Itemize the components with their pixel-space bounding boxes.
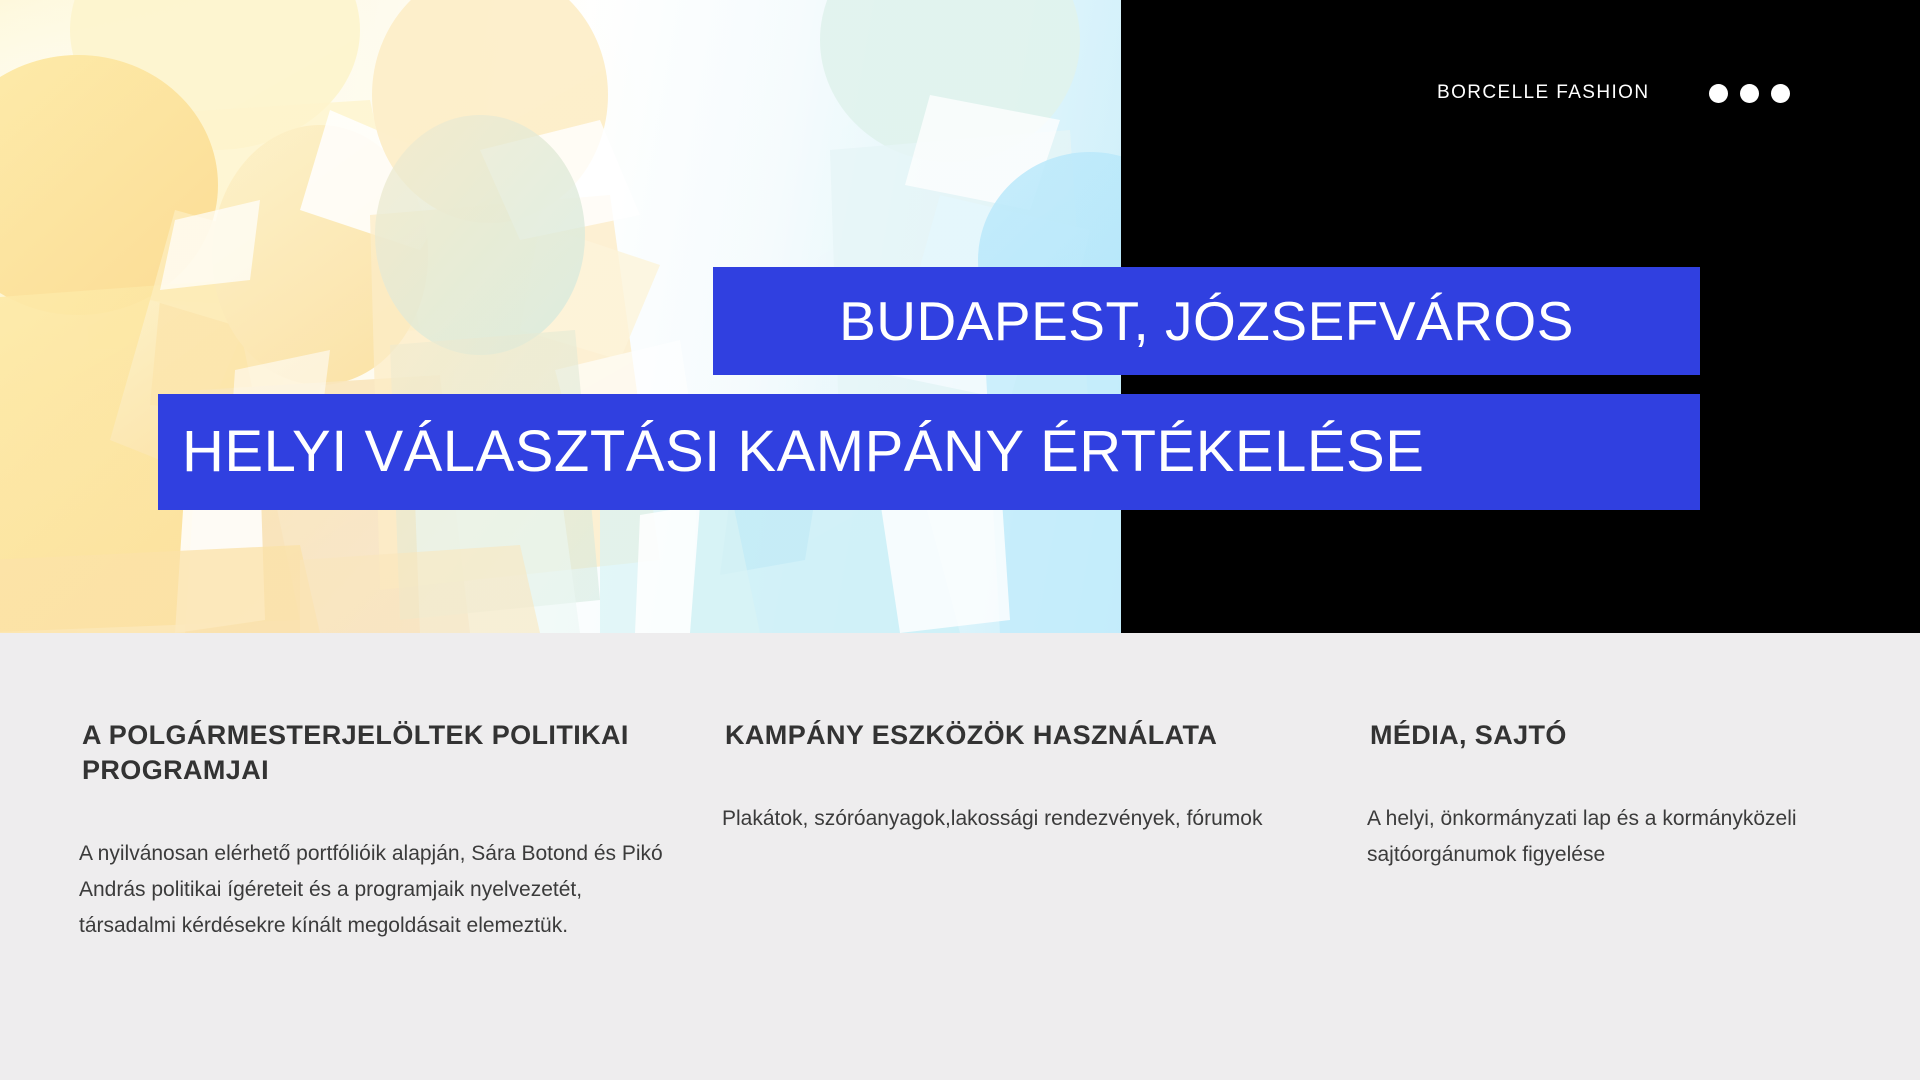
title-banner-line-1: BUDAPEST, JÓZSEFVÁROS	[713, 267, 1700, 375]
title-banner-line-2: HELYI VÁLASZTÁSI KAMPÁNY ÉRTÉKELÉSE	[158, 394, 1700, 510]
column-2-body: Plakátok, szóróanyagok,lakossági rendezv…	[722, 801, 1322, 837]
title-line-1-text: BUDAPEST, JÓZSEFVÁROS	[839, 294, 1574, 349]
column-campaign-tools: KAMPÁNY ESZKÖZÖK HASZNÁLATA Plakátok, sz…	[722, 718, 1322, 837]
three-dots-icon[interactable]	[1709, 84, 1790, 103]
column-2-heading: KAMPÁNY ESZKÖZÖK HASZNÁLATA	[725, 718, 1322, 753]
content-columns: A POLGÁRMESTERJELÖLTEK POLITIKAI PROGRAM…	[0, 633, 1920, 1080]
title-line-2-text: HELYI VÁLASZTÁSI KAMPÁNY ÉRTÉKELÉSE	[182, 423, 1424, 481]
slide-root: BORCELLE FASHION BUDAPEST, JÓZSEFVÁROS H…	[0, 0, 1920, 1080]
column-1-body: A nyilvánosan elérhető portfólióik alapj…	[79, 836, 669, 944]
brand-name: BORCELLE FASHION	[1437, 82, 1649, 104]
brand-header: BORCELLE FASHION	[1437, 82, 1790, 104]
column-program: A POLGÁRMESTERJELÖLTEK POLITIKAI PROGRAM…	[79, 718, 669, 944]
dot-2	[1740, 84, 1759, 103]
dot-1	[1709, 84, 1728, 103]
column-media-press: MÉDIA, SAJTÓ A helyi, önkormányzati lap …	[1367, 718, 1827, 873]
dot-3	[1771, 84, 1790, 103]
column-3-body: A helyi, önkormányzati lap és a kormányk…	[1367, 801, 1827, 873]
column-3-heading: MÉDIA, SAJTÓ	[1370, 718, 1827, 753]
column-1-heading: A POLGÁRMESTERJELÖLTEK POLITIKAI PROGRAM…	[82, 718, 669, 787]
hero-section: BORCELLE FASHION BUDAPEST, JÓZSEFVÁROS H…	[0, 0, 1920, 633]
